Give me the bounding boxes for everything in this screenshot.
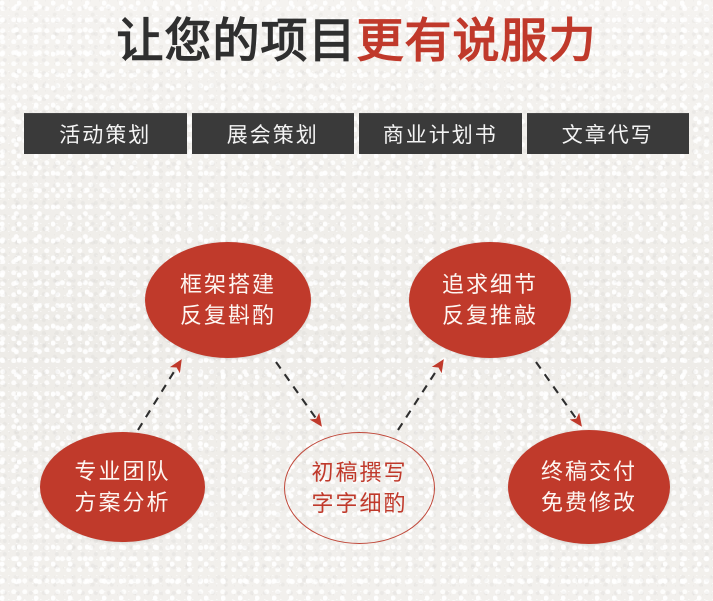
flow-node-line-1: 终稿交付 (541, 456, 637, 487)
connector-bottommid-to-topright (398, 362, 442, 430)
flow-node-professional-team[interactable]: 专业团队 方案分析 (40, 432, 205, 542)
flow-node-line-1: 初稿撰写 (311, 457, 407, 488)
flow-node-line-1: 框架搭建 (180, 269, 276, 300)
flow-node-line-2: 字字细酌 (311, 488, 407, 519)
flow-node-line-2: 反复斟酌 (180, 300, 276, 331)
process-flow-diagram: 框架搭建 反复斟酌 追求细节 反复推敲 专业团队 方案分析 初稿撰写 字字细酌 … (0, 0, 713, 601)
flow-node-line-2: 方案分析 (74, 487, 170, 518)
flow-node-framework-building[interactable]: 框架搭建 反复斟酌 (145, 242, 311, 358)
flow-node-line-1: 专业团队 (74, 456, 170, 487)
flow-node-line-2: 反复推敲 (442, 300, 538, 331)
poster-canvas: 让您的项目更有说服力 活动策划 展会策划 商业计划书 文章代写 (0, 0, 713, 601)
connector-bottomleft-to-topleft (138, 362, 180, 430)
flow-node-line-2: 免费修改 (541, 487, 637, 518)
flow-node-draft-writing[interactable]: 初稿撰写 字字细酌 (284, 432, 435, 544)
flow-node-detail-pursuit[interactable]: 追求细节 反复推敲 (409, 242, 571, 358)
connector-topleft-to-bottommid (276, 362, 320, 424)
flow-node-final-delivery[interactable]: 终稿交付 免费修改 (508, 430, 670, 544)
connector-topright-to-bottomright (536, 362, 580, 424)
flow-node-line-1: 追求细节 (442, 269, 538, 300)
